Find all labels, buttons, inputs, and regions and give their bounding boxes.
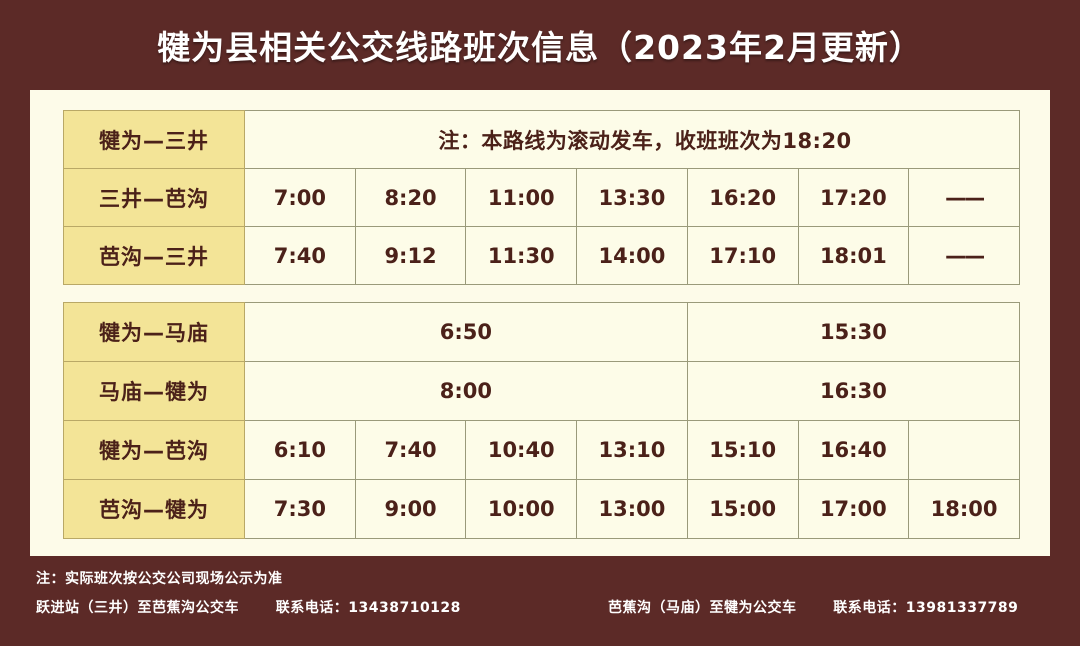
route-label: 马庙—犍为	[64, 362, 245, 421]
footer-phone-right: 13981337789	[906, 600, 1019, 616]
table-row: 三井—芭沟 7:00 8:20 11:00 13:30 16:20 17:20 …	[64, 169, 1020, 227]
departure-time: 13:30	[577, 169, 688, 227]
content-panel: 犍为—三井 注：本路线为滚动发车，收班班次为18:20 三井—芭沟 7:00 8…	[30, 90, 1050, 556]
departure-time: 7:00	[245, 169, 356, 227]
departure-time: 15:10	[687, 421, 798, 480]
table-row: 犍为—马庙 6:50 15:30	[64, 303, 1020, 362]
footer-phone-label-right: 联系电话：	[833, 600, 906, 616]
departure-time: 10:40	[466, 421, 577, 480]
departure-time: 17:00	[798, 480, 909, 539]
departure-time: 16:40	[798, 421, 909, 480]
table-row: 芭沟—三井 7:40 9:12 11:30 14:00 17:10 18:01 …	[64, 227, 1020, 285]
departure-time: 15:30	[687, 303, 1019, 362]
schedule-table-sanjing: 犍为—三井 注：本路线为滚动发车，收班班次为18:20 三井—芭沟 7:00 8…	[63, 110, 1020, 285]
route-label: 三井—芭沟	[64, 169, 245, 227]
departure-time: 8:20	[355, 169, 466, 227]
departure-time: 7:30	[245, 480, 356, 539]
title-bar: 犍为县相关公交线路班次信息（2023年2月更新）	[0, 0, 1080, 90]
footer-route-left: 跃进站（三井）至芭蕉沟公交车	[36, 600, 239, 616]
schedule-table-mamiao-bagou: 犍为—马庙 6:50 15:30 马庙—犍为 8:00 16:30 犍为—芭沟 …	[63, 302, 1020, 539]
departure-time: 7:40	[355, 421, 466, 480]
route-label: 犍为—三井	[64, 111, 245, 169]
footer-contact-right: 芭蕉沟（马庙）至犍为公交车 联系电话：13981337789	[608, 597, 1018, 617]
route-label: 犍为—马庙	[64, 303, 245, 362]
departure-time: 6:10	[245, 421, 356, 480]
footer-route-right: 芭蕉沟（马庙）至犍为公交车	[608, 600, 797, 616]
departure-time: 17:20	[798, 169, 909, 227]
footer-note: 注：实际班次按公交公司现场公示为准	[36, 568, 283, 588]
route-label: 犍为—芭沟	[64, 421, 245, 480]
departure-time: 16:20	[687, 169, 798, 227]
departure-time: 18:00	[909, 480, 1020, 539]
departure-time-empty: ——	[909, 169, 1020, 227]
footer-phone-left: 13438710128	[348, 600, 461, 616]
departure-time: 11:30	[466, 227, 577, 285]
departure-time: 6:50	[245, 303, 688, 362]
page-title: 犍为县相关公交线路班次信息（2023年2月更新）	[157, 21, 923, 69]
table-row: 犍为—三井 注：本路线为滚动发车，收班班次为18:20	[64, 111, 1020, 169]
departure-time: 14:00	[577, 227, 688, 285]
departure-time: 16:30	[687, 362, 1019, 421]
departure-time: 15:00	[687, 480, 798, 539]
departure-time: 18:01	[798, 227, 909, 285]
departure-time: 9:12	[355, 227, 466, 285]
footer-contact-left: 跃进站（三井）至芭蕉沟公交车 联系电话：13438710128	[36, 597, 461, 617]
departure-time: 11:00	[466, 169, 577, 227]
departure-time: 10:00	[466, 480, 577, 539]
departure-time: 17:10	[687, 227, 798, 285]
table-row: 犍为—芭沟 6:10 7:40 10:40 13:10 15:10 16:40	[64, 421, 1020, 480]
route-note: 注：本路线为滚动发车，收班班次为18:20	[245, 111, 1020, 169]
route-label: 芭沟—犍为	[64, 480, 245, 539]
departure-time-empty	[909, 421, 1020, 480]
footer-phone-label-left: 联系电话：	[276, 600, 349, 616]
table-row: 芭沟—犍为 7:30 9:00 10:00 13:00 15:00 17:00 …	[64, 480, 1020, 539]
departure-time-empty: ——	[909, 227, 1020, 285]
table-row: 马庙—犍为 8:00 16:30	[64, 362, 1020, 421]
departure-time: 13:10	[577, 421, 688, 480]
departure-time: 7:40	[245, 227, 356, 285]
departure-time: 8:00	[245, 362, 688, 421]
departure-time: 9:00	[355, 480, 466, 539]
poster-root: 犍为县相关公交线路班次信息（2023年2月更新） 犍为—三井 注：本路线为滚动发…	[0, 0, 1080, 646]
departure-time: 13:00	[577, 480, 688, 539]
footer: 注：实际班次按公交公司现场公示为准 跃进站（三井）至芭蕉沟公交车 联系电话：13…	[0, 560, 1080, 646]
route-label: 芭沟—三井	[64, 227, 245, 285]
